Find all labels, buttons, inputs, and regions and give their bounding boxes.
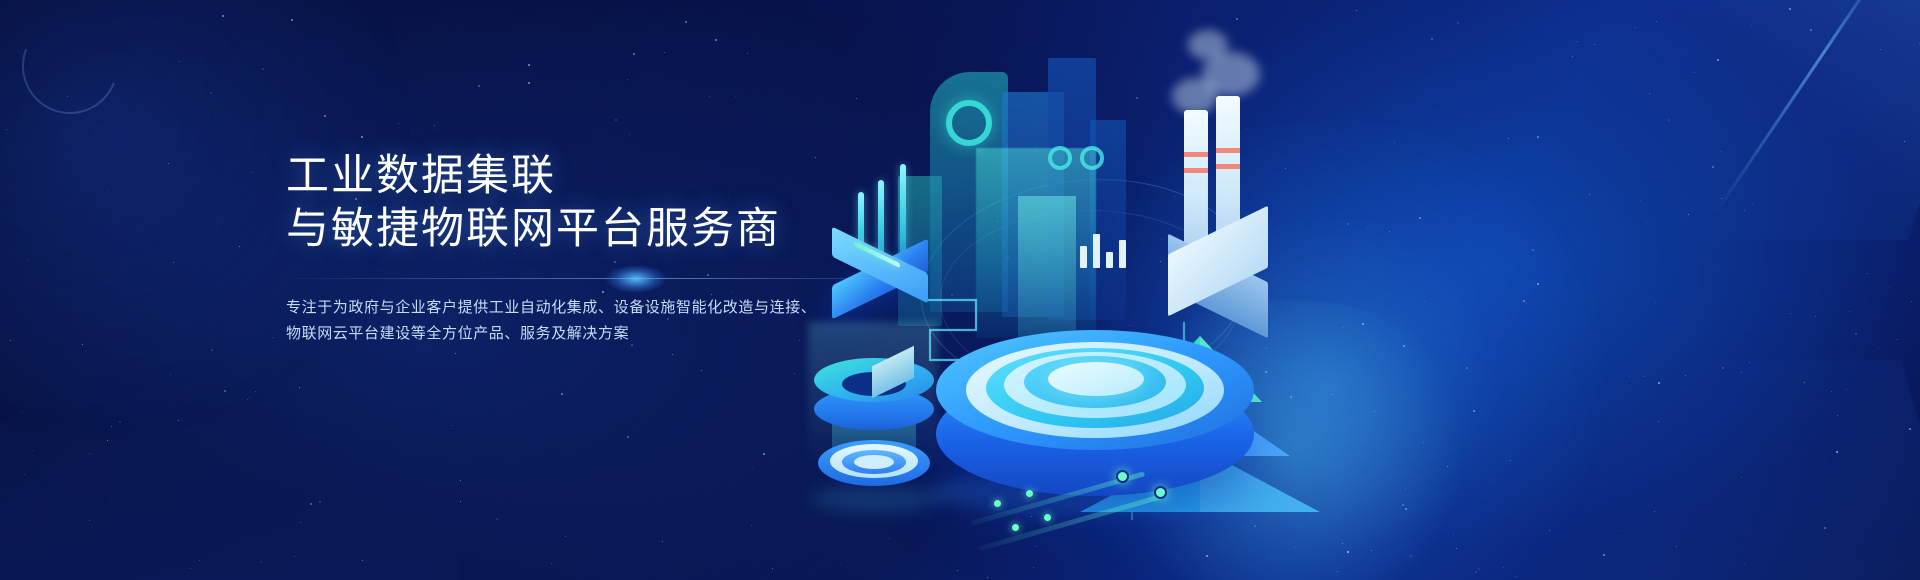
data-node-2	[1154, 486, 1167, 499]
data-dot-2	[1026, 490, 1033, 497]
light-streak-bottom-left	[0, 420, 460, 580]
hero-banner: 工业数据集联 与敏捷物联网平台服务商 专注于为政府与企业客户提供工业自动化集成、…	[0, 0, 1920, 580]
dome-core	[1048, 362, 1144, 396]
data-dot-3	[1012, 524, 1019, 531]
headline-line-2: 与敏捷物联网平台服务商	[286, 203, 886, 256]
data-dot-1	[994, 500, 1001, 507]
subtitle-line-2: 物联网云平台建设等全方位产品、服务及解决方案	[286, 321, 886, 347]
headline-line-1: 工业数据集联	[286, 150, 886, 203]
hero-illustration	[780, 0, 1920, 580]
subtitle-line-1: 专注于为政府与企业客户提供工业自动化集成、设备设施智能化改造与连接、	[286, 295, 886, 321]
data-node-1	[1116, 470, 1129, 483]
cylinder-reflection	[810, 486, 940, 512]
data-dot-4	[1044, 514, 1051, 521]
cylinder-pad-dot	[854, 455, 894, 469]
hero-text-block: 工业数据集联 与敏捷物联网平台服务商 专注于为政府与企业客户提供工业自动化集成、…	[286, 150, 886, 347]
moon-arc-decoration	[7, 3, 134, 130]
headline-divider	[276, 278, 886, 279]
